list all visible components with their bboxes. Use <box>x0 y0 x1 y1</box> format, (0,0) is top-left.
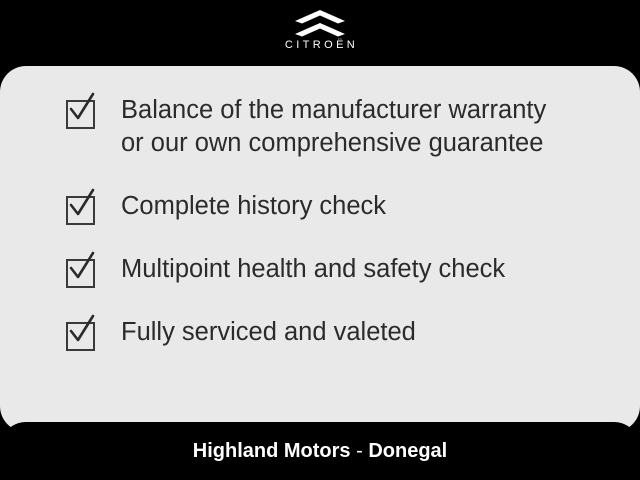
features-panel: Balance of the manufacturer warranty or … <box>0 66 640 432</box>
dealer-name-group: Highland Motors - Donegal <box>193 440 447 463</box>
checkmark-icon <box>65 188 97 222</box>
list-item: Balance of the manufacturer warranty or … <box>66 94 610 160</box>
checked-checkbox-icon <box>66 322 95 351</box>
citroen-double-chevron-icon <box>293 8 347 38</box>
dealer-name: Highland Motors <box>193 440 351 462</box>
list-item-label: Multipoint health and safety check <box>121 253 505 286</box>
advert-card: CITROËN Balance of the manufacturer warr… <box>0 0 640 480</box>
brand-header: CITROËN <box>0 0 640 72</box>
features-list: Balance of the manufacturer warranty or … <box>66 94 610 381</box>
checked-checkbox-icon <box>66 259 95 288</box>
list-item-label: Complete history check <box>121 190 386 223</box>
dealer-separator: - <box>351 440 369 462</box>
brand-name: CITROËN <box>282 39 358 51</box>
checked-checkbox-icon <box>66 196 95 225</box>
checked-checkbox-icon <box>66 100 95 129</box>
dealer-footer: Highland Motors - Donegal <box>0 422 640 480</box>
list-item: Multipoint health and safety check <box>66 253 610 288</box>
list-item-label: Balance of the manufacturer warranty or … <box>121 94 546 160</box>
brand-logo-group: CITROËN <box>0 8 640 51</box>
dealer-location: Donegal <box>368 440 447 462</box>
checkmark-icon <box>65 314 97 348</box>
list-item: Fully serviced and valeted <box>66 316 610 351</box>
list-item: Complete history check <box>66 190 610 225</box>
checkmark-icon <box>65 92 97 126</box>
checkmark-icon <box>65 251 97 285</box>
list-item-label: Fully serviced and valeted <box>121 316 416 349</box>
